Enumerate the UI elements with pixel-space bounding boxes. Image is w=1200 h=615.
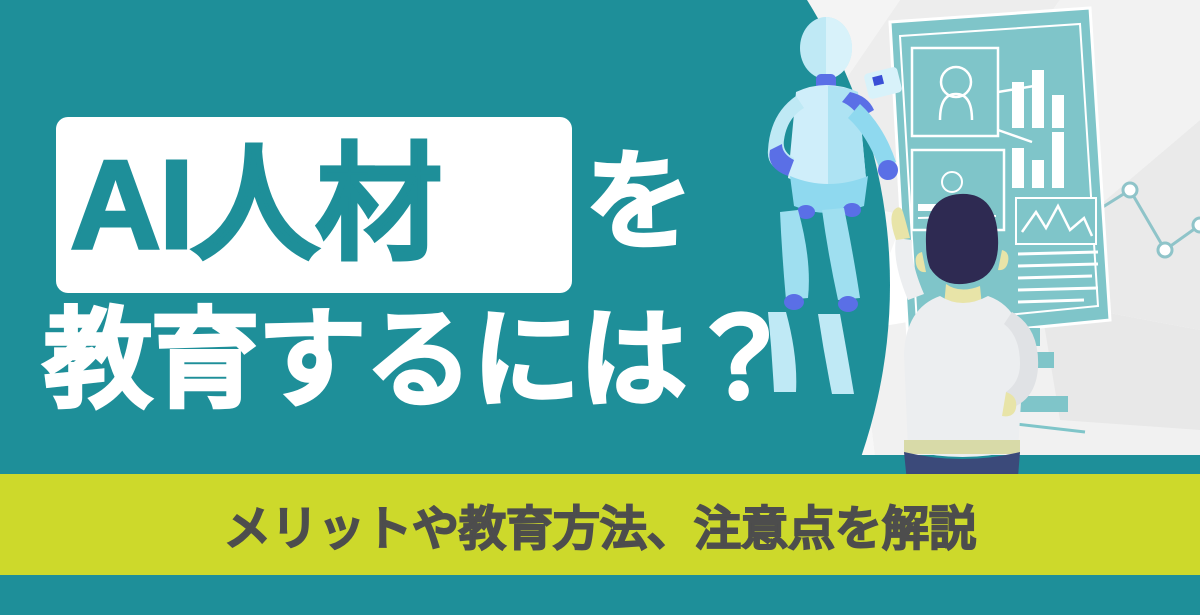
headline-line-two: 教育するには？ <box>44 300 793 421</box>
hero-illustration <box>740 0 1200 500</box>
headline-boxed-text: AI人材 <box>70 124 570 286</box>
line-chart-panel <box>1016 198 1096 244</box>
person-avatar-panel <box>912 48 998 136</box>
promo-banner: AI人材 を 教育するには？ メリットや教育方法、注意点を解説 <box>0 0 1200 615</box>
headline-particle: を <box>585 148 693 256</box>
subtitle-text: メリットや教育方法、注意点を解説 <box>0 474 1200 575</box>
headline-group: AI人材 を 教育するには？ <box>0 0 800 470</box>
